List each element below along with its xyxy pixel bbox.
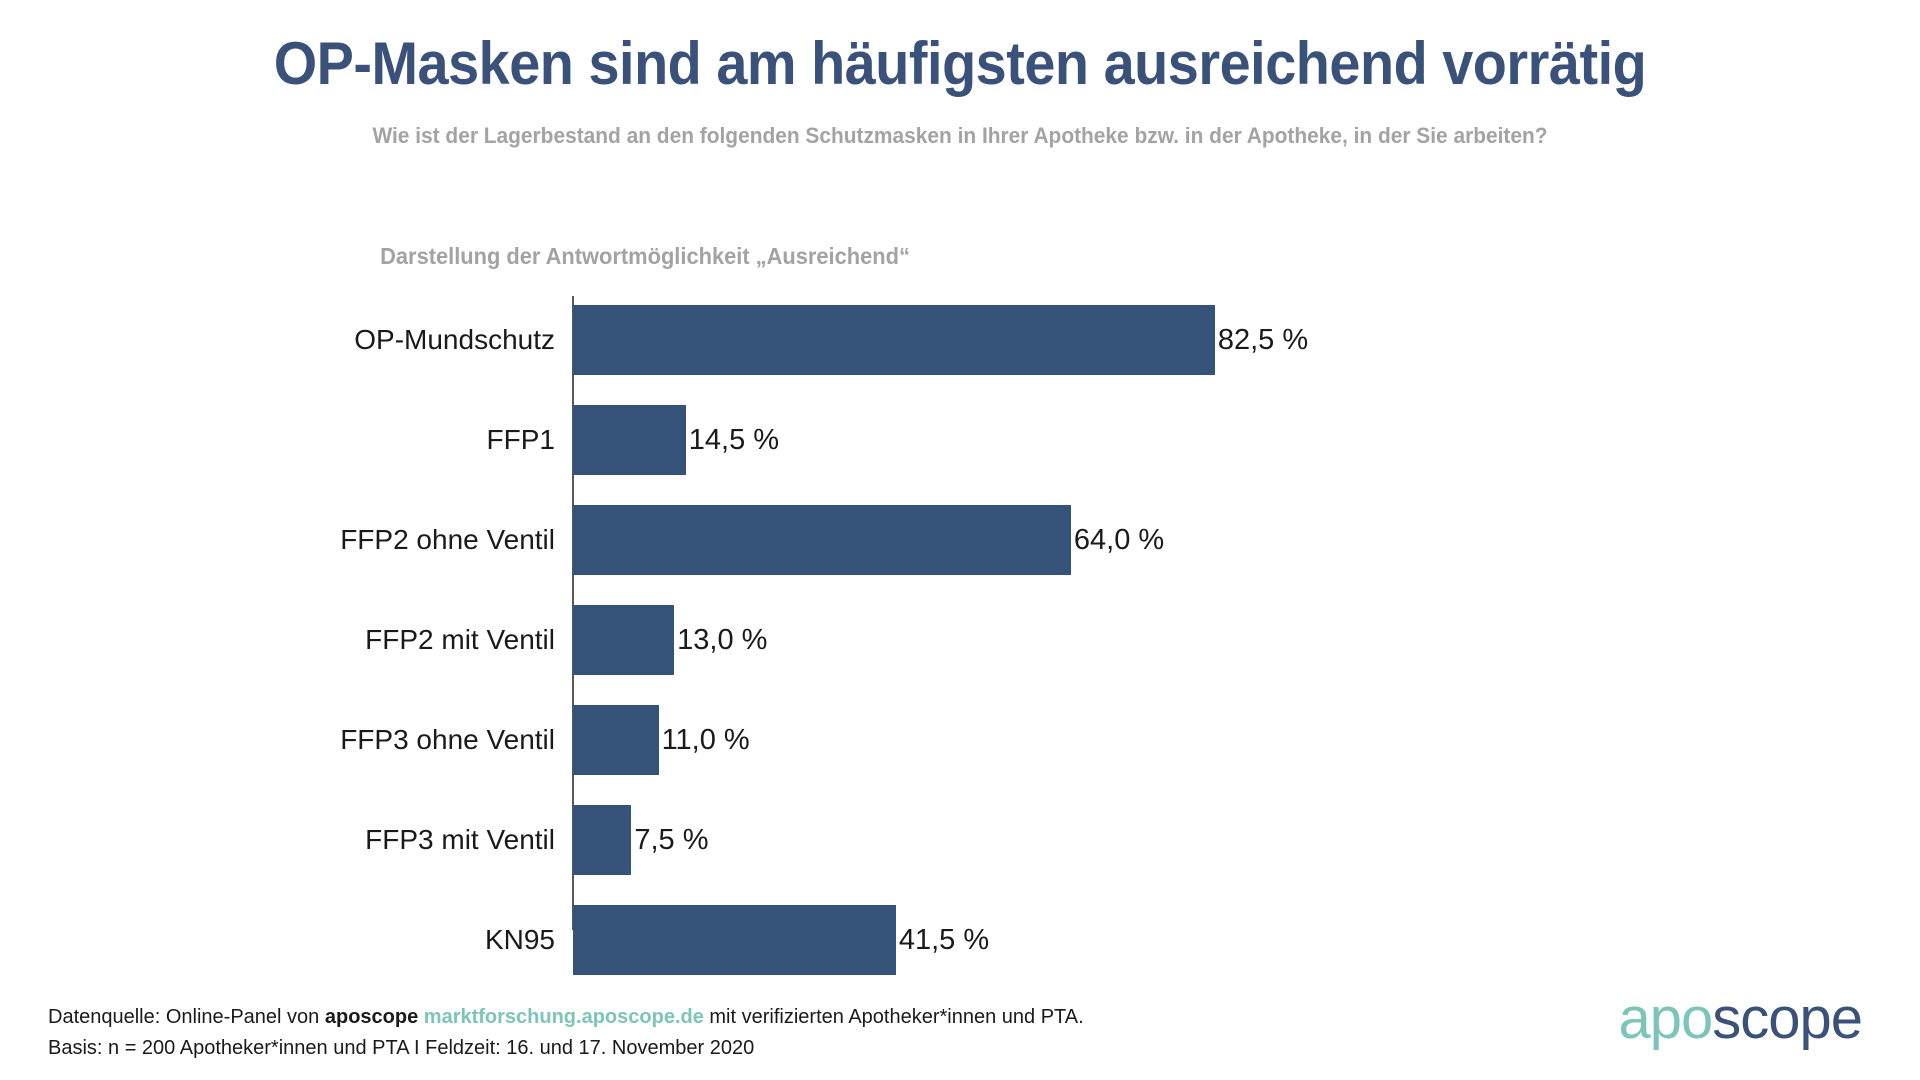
- bar-row: FFP2 ohne Ventil64,0 %: [0, 505, 1400, 575]
- chart-subtitle: Darstellung der Antwortmöglichkeit „Ausr…: [32, 243, 1258, 270]
- bar-row: FFP3 mit Ventil7,5 %: [0, 805, 1400, 875]
- bar-value-label: 7,5 %: [631, 805, 708, 875]
- source-brand: aposcope: [325, 1006, 418, 1028]
- bar-category-label: FFP2 mit Ventil: [0, 605, 555, 675]
- bar-row: KN9541,5 %: [0, 905, 1400, 975]
- bar-value-label: 41,5 %: [896, 905, 989, 975]
- bar-rect: [573, 605, 674, 675]
- bar-row: FFP114,5 %: [0, 405, 1400, 475]
- bar-category-label: FFP1: [0, 405, 555, 475]
- bar-value-label: 14,5 %: [686, 405, 779, 475]
- bar-rect: [573, 805, 631, 875]
- source-prefix: Datenquelle: Online-Panel von: [48, 1006, 325, 1028]
- bar-chart: Darstellung der Antwortmöglichkeit „Ausr…: [0, 0, 1920, 1080]
- source-link[interactable]: marktforschung.aposcope.de: [424, 1006, 704, 1028]
- bar-value-label: 11,0 %: [659, 705, 750, 775]
- source-note: Datenquelle: Online-Panel von aposcope m…: [48, 1002, 1084, 1064]
- logo-apo-text: apo: [1618, 986, 1712, 1051]
- bar-rect: [573, 705, 659, 775]
- bar-value-label: 64,0 %: [1071, 505, 1164, 575]
- logo-scope-text: scope: [1712, 986, 1862, 1051]
- bar-category-label: FFP3 mit Ventil: [0, 805, 555, 875]
- bar-value-label: 82,5 %: [1215, 305, 1308, 375]
- bar-category-label: OP-Mundschutz: [0, 305, 555, 375]
- bar-rect: [573, 405, 686, 475]
- source-suffix: mit verifizierten Apotheker*innen und PT…: [704, 1006, 1084, 1028]
- basis-line: Basis: n = 200 Apotheker*innen und PTA I…: [48, 1033, 1084, 1064]
- bar-category-label: FFP2 ohne Ventil: [0, 505, 555, 575]
- bar-rect: [573, 505, 1071, 575]
- aposcope-logo: aposcope: [1618, 990, 1862, 1048]
- bar-row: OP-Mundschutz82,5 %: [0, 305, 1400, 375]
- source-line: Datenquelle: Online-Panel von aposcope m…: [48, 1002, 1084, 1033]
- bar-row: FFP2 mit Ventil13,0 %: [0, 605, 1400, 675]
- bar-rect: [573, 905, 896, 975]
- bar-category-label: FFP3 ohne Ventil: [0, 705, 555, 775]
- bar-category-label: KN95: [0, 905, 555, 975]
- bar-rect: [573, 305, 1215, 375]
- bar-value-label: 13,0 %: [674, 605, 767, 675]
- bar-row: FFP3 ohne Ventil11,0 %: [0, 705, 1400, 775]
